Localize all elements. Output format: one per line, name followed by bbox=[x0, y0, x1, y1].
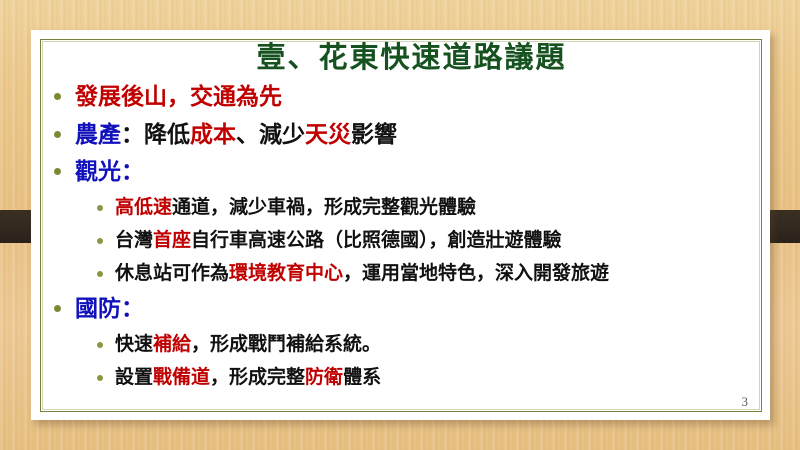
bullet-item-level2: 台灣首座自行車高速公路（比照德國），創造壯遊體驗 bbox=[93, 224, 756, 257]
bullet-text-run: 成本 bbox=[190, 122, 236, 147]
slide-title: 壹、花東快速道路議題 bbox=[45, 40, 756, 76]
bullet-item-level2: 快速補給，形成戰鬥補給系統。 bbox=[93, 328, 756, 361]
bullet-text-run: ，形成戰鬥補給系統。 bbox=[191, 334, 381, 355]
bullet-item-level2: 設置戰備道，形成完整防衛體系 bbox=[93, 361, 756, 394]
bullet-text-run: 發展後山，交通為先 bbox=[75, 84, 282, 109]
bullet-text-run: 國防： bbox=[75, 296, 144, 321]
bullet-text-run: 農產 bbox=[75, 122, 121, 147]
bullet-text-run: 防衛 bbox=[305, 367, 343, 388]
bullet-item-level1: 發展後山，交通為先 bbox=[49, 78, 756, 115]
bullet-text-run: 休息站可作為 bbox=[115, 263, 229, 284]
bullet-list-level1: 發展後山，交通為先農產：降低成本、減少天災影響觀光：高低速通道，減少車禍，形成完… bbox=[45, 78, 756, 394]
bullet-item-level1: 農產：降低成本、減少天災影響 bbox=[49, 116, 756, 153]
bullet-list-level2: 高低速通道，減少車禍，形成完整觀光體驗台灣首座自行車高速公路（比照德國），創造壯… bbox=[49, 191, 756, 291]
bullet-text-run: 設置 bbox=[115, 367, 153, 388]
bullet-item-level2: 高低速通道，減少車禍，形成完整觀光體驗 bbox=[93, 191, 756, 224]
bullet-text-run: 戰備道 bbox=[153, 367, 210, 388]
bullet-text-run: 首座 bbox=[153, 230, 191, 251]
bullet-text-run: ：降低 bbox=[121, 122, 190, 147]
bullet-item-level2: 休息站可作為環境教育中心，運用當地特色，深入開發旅遊 bbox=[93, 257, 756, 290]
bullet-text-run: 台灣 bbox=[115, 230, 153, 251]
bullet-text-run: ，形成完整 bbox=[210, 367, 305, 388]
bullet-text-run: 環境教育中心 bbox=[229, 263, 343, 284]
bullet-text-run: 快速 bbox=[115, 334, 153, 355]
bullet-list-host: 發展後山，交通為先農產：降低成本、減少天災影響觀光：高低速通道，減少車禍，形成完… bbox=[45, 78, 756, 394]
bullet-text-run: 影響 bbox=[351, 122, 397, 147]
page-number: 3 bbox=[742, 394, 749, 410]
bullet-text-run: ，運用當地特色，深入開發旅遊 bbox=[343, 263, 609, 284]
bullet-item-level1: 國防： bbox=[49, 290, 756, 327]
bullet-text-run: 補給 bbox=[153, 334, 191, 355]
slide-content: 壹、花東快速道路議題 發展後山，交通為先農產：降低成本、減少天災影響觀光：高低速… bbox=[31, 30, 770, 420]
bullet-text-run: 天災 bbox=[305, 122, 351, 147]
slide-card: 壹、花東快速道路議題 發展後山，交通為先農產：降低成本、減少天災影響觀光：高低速… bbox=[31, 30, 770, 420]
bullet-text-run: 通道，減少車禍，形成完整觀光體驗 bbox=[172, 197, 476, 218]
bullet-text-run: 體系 bbox=[343, 367, 381, 388]
slide-canvas: 壹、花東快速道路議題 發展後山，交通為先農產：降低成本、減少天災影響觀光：高低速… bbox=[0, 0, 800, 450]
bullet-text-run: 自行車高速公路（比照德國），創造壯遊體驗 bbox=[191, 230, 562, 251]
bullet-text-run: 、減少 bbox=[236, 122, 305, 147]
bullet-text-run: 觀光： bbox=[75, 159, 144, 184]
bullet-list-level2: 快速補給，形成戰鬥補給系統。設置戰備道，形成完整防衛體系 bbox=[49, 328, 756, 395]
bullet-item-level1: 觀光： bbox=[49, 153, 756, 190]
bullet-text-run: 高低速 bbox=[115, 197, 172, 218]
